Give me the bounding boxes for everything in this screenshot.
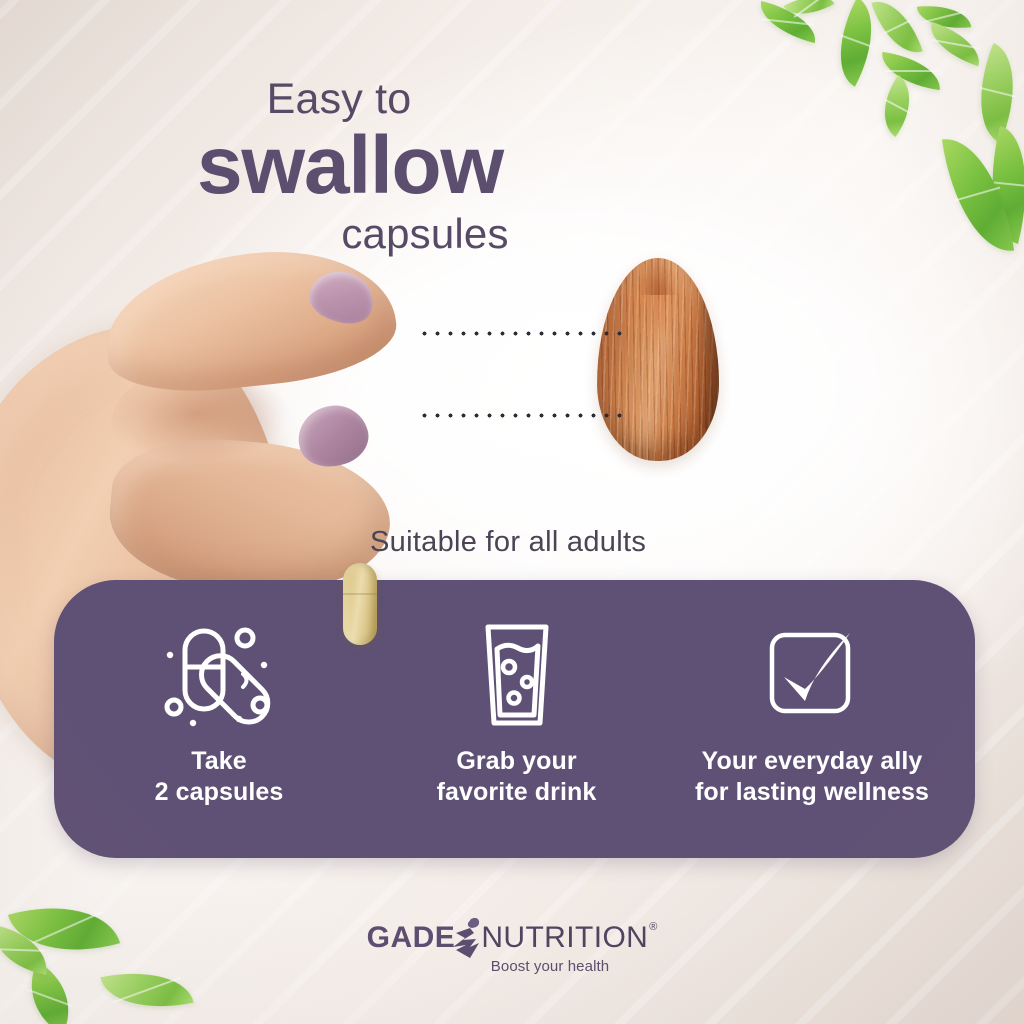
logo-tagline: Boost your health <box>491 958 609 975</box>
feature-label-line1: Grab your <box>456 747 576 775</box>
headline-line-swallow: swallow <box>0 125 700 207</box>
water-glass-icon <box>472 616 562 734</box>
registered-trademark-symbol: ® <box>649 921 657 933</box>
feature-label-line2: for lasting wellness <box>695 778 929 806</box>
subtitle-text: Suitable for all adults <box>370 526 646 559</box>
infographic-canvas: Easy to swallow capsules Suitable for al… <box>0 0 1024 1024</box>
capsules-icon <box>160 616 278 734</box>
feature-item-take-capsules: Take 2 capsules <box>54 580 384 858</box>
almond-image <box>597 258 719 461</box>
feature-label: Grab your favorite drink <box>437 746 597 807</box>
feature-label-line1: Take <box>191 747 247 775</box>
feature-label-line2: 2 capsules <box>155 778 284 806</box>
feature-label: Take 2 capsules <box>155 746 284 807</box>
feature-label: Your everyday ally for lasting wellness <box>695 746 929 807</box>
logo-brand-suffix: NUTRITION <box>481 921 648 955</box>
headline-line-easy: Easy to <box>0 78 700 121</box>
feature-item-everyday-ally: Your everyday ally for lasting wellness <box>649 580 975 858</box>
checkmark-box-icon <box>760 616 864 734</box>
brand-logo: GADE NUTRITION ® Boost your health <box>0 916 1024 975</box>
logo-brand-name: GADE <box>367 921 456 955</box>
feature-item-favorite-drink: Grab your favorite drink <box>384 580 649 858</box>
feature-label-line1: Your everyday ally <box>702 747 923 775</box>
headline-block: Easy to swallow capsules <box>0 78 700 255</box>
feature-label-line2: favorite drink <box>437 778 597 806</box>
leaping-figure-leaf-icon <box>450 916 484 960</box>
capsule-product <box>343 563 377 645</box>
feature-panel: Take 2 capsules Grab your favori <box>54 580 975 858</box>
